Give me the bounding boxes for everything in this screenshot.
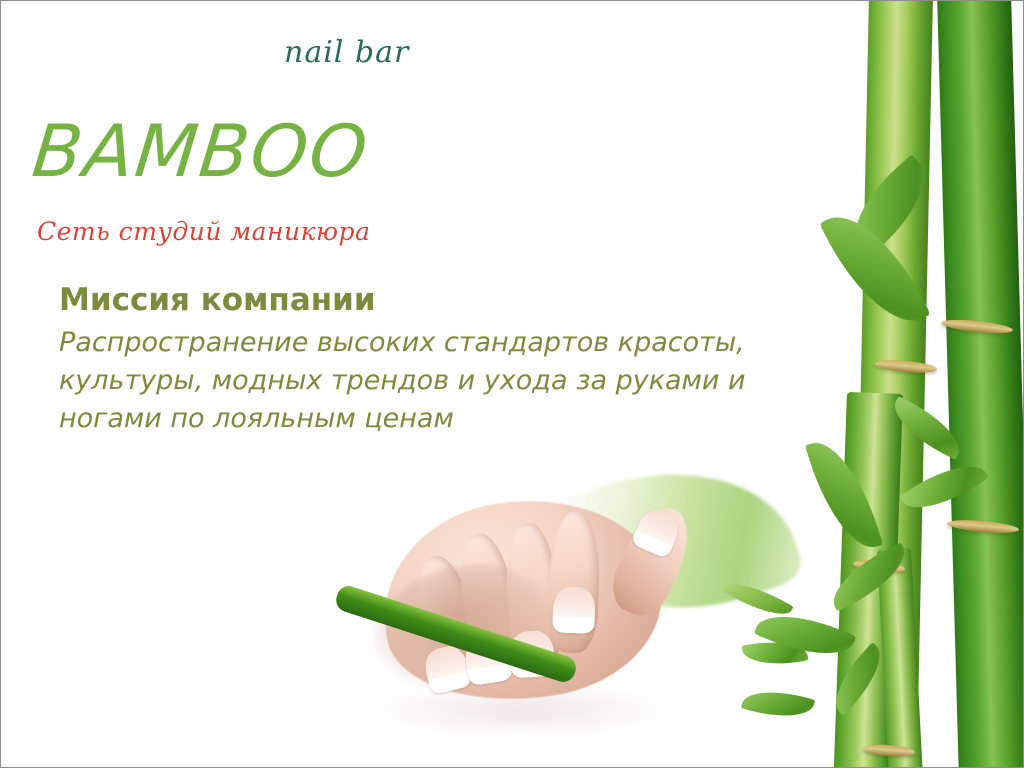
presentation-slide: nail bar BAMBOO Сеть студий маникюра Мис… [0, 0, 1024, 768]
mission-section: Миссия компании Распространение высоких … [59, 281, 799, 439]
manicured-hand-image [331, 471, 751, 768]
brand-tagline: nail bar [284, 35, 409, 70]
bamboo-stalk-dark [937, 0, 1024, 768]
nail-white-tip [552, 617, 595, 634]
brand-logo-wordmark: BAMBOO [29, 109, 373, 193]
bamboo-leaf [741, 683, 815, 725]
fingernail-french-manicure [552, 586, 596, 633]
mission-body-text: Распространение высоких стандартов красо… [59, 324, 789, 439]
brand-descriptor: Сеть студий маникюра [37, 217, 370, 246]
mission-heading: Миссия компании [59, 281, 799, 320]
